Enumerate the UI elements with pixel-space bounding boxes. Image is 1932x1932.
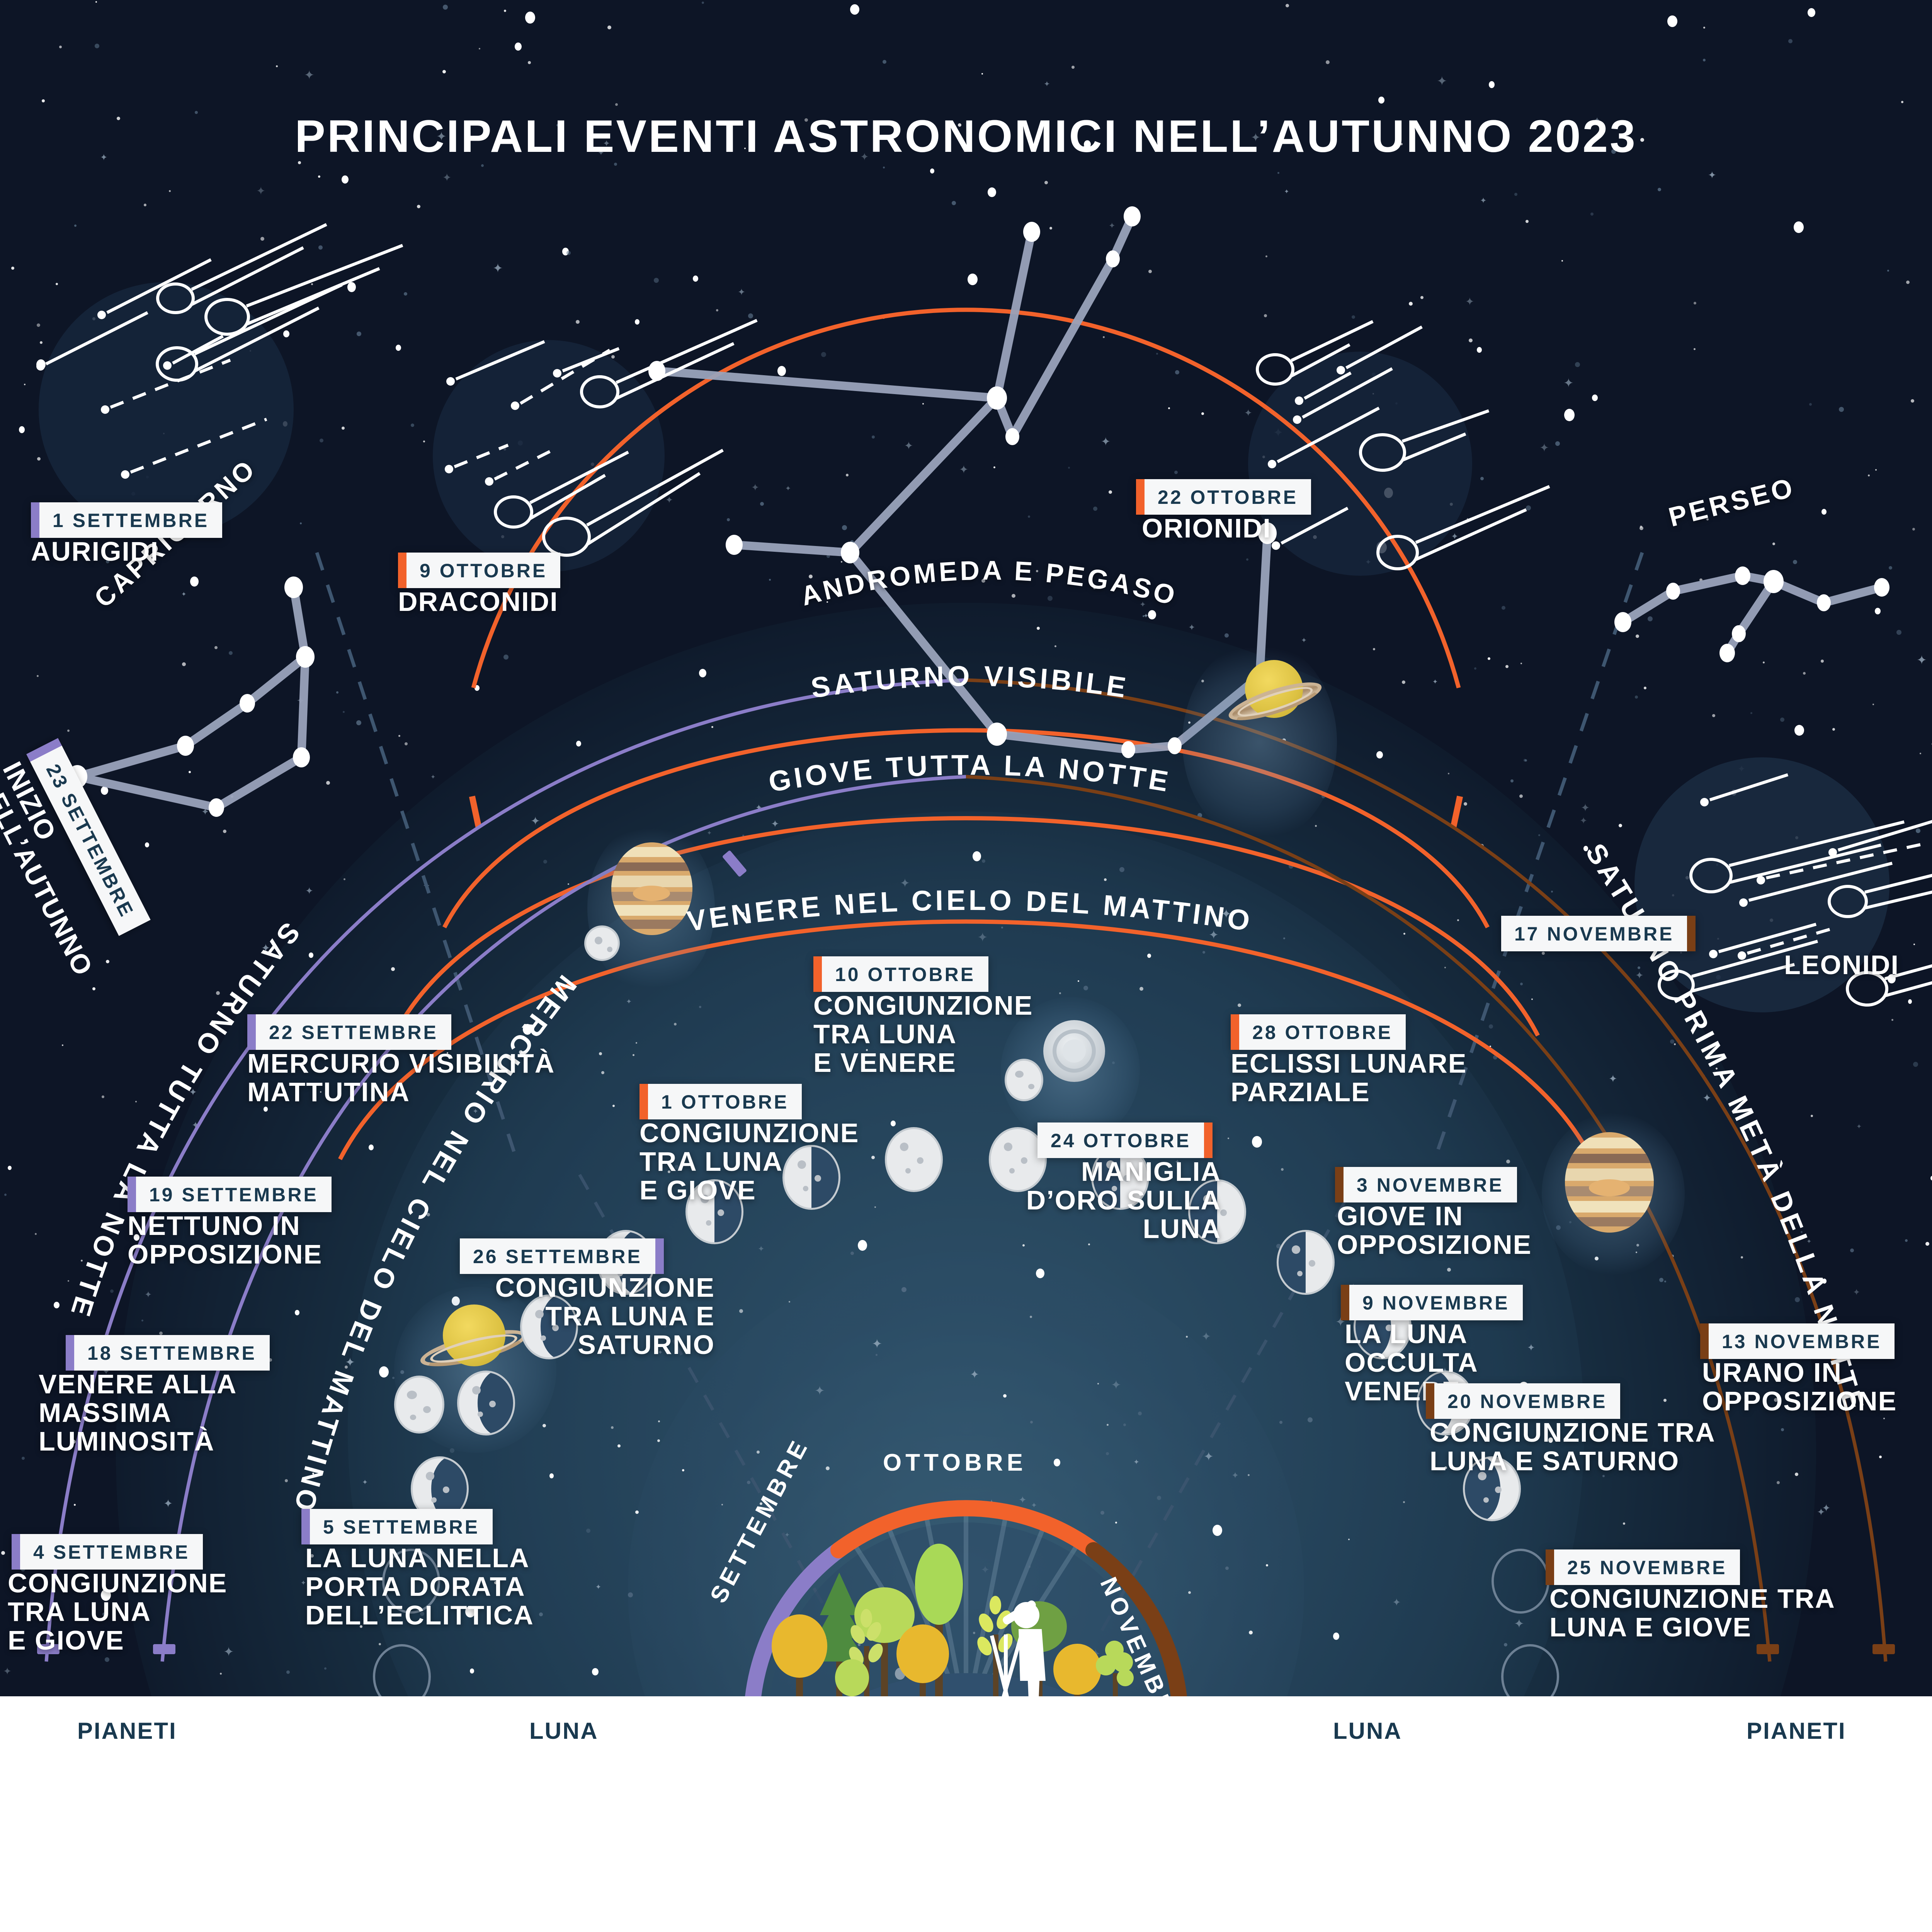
chip-date-label: 4 SETTEMBRE xyxy=(20,1534,203,1570)
chip-date-17-novembre[interactable]: 17 NOVEMBRE xyxy=(1501,916,1696,951)
chip-accent-bar xyxy=(1426,1383,1434,1419)
chip-date-label: 18 SETTEMBRE xyxy=(74,1335,270,1371)
chip-accent-bar xyxy=(639,1084,648,1119)
chip-date-28-ottobre[interactable]: 28 OTTOBRE xyxy=(1231,1014,1406,1050)
event-title: GIOVE IN OPPOSIZIONE xyxy=(1337,1202,1532,1259)
arc-label-giove-tutta-la-notte: GIOVE TUTTA LA NOTTE xyxy=(657,734,1283,825)
month-label-ottobre: OTTOBRE xyxy=(883,1449,1027,1476)
event-title: VENERE ALLA MASSIMA LUMINOSITÀ xyxy=(39,1370,237,1456)
footer-label-pianeti-left: PIANETI xyxy=(77,1718,177,1744)
chip-date-24-ottobre[interactable]: 24 OTTOBRE xyxy=(1037,1122,1213,1158)
chip-date-label: 9 OTTOBRE xyxy=(406,553,560,588)
chip-date-1-ottobre[interactable]: 1 OTTOBRE xyxy=(639,1084,802,1119)
event-title: LEONIDI xyxy=(1501,951,1899,979)
event-eclissi-lunare-parziale: ECLISSI LUNARE PARZIALE xyxy=(1231,1049,1467,1106)
event-title: LA LUNA NELLA PORTA DORATA DELL’ECLITTIC… xyxy=(305,1544,534,1630)
event-title: NETTUNO IN OPPOSIZIONE xyxy=(128,1211,322,1269)
chip-accent-bar xyxy=(1700,1323,1709,1359)
event-title: CONGIUNZIONE TRA LUNA E SATURNO xyxy=(1430,1418,1716,1475)
event-draconidi: DRACONIDI xyxy=(398,587,558,616)
event-title: DRACONIDI xyxy=(398,587,558,616)
chip-accent-bar xyxy=(1204,1122,1213,1158)
event-title: CONGIUNZIONE TRA LUNA E SATURNO xyxy=(386,1273,715,1359)
chip-date-label: 28 OTTOBRE xyxy=(1239,1014,1406,1050)
event-title: ORIONIDI xyxy=(1142,514,1271,543)
event-title: URANO IN OPPOSIZIONE xyxy=(1702,1358,1897,1415)
event-title: ECLISSI LUNARE PARZIALE xyxy=(1231,1049,1467,1106)
chip-accent-bar xyxy=(1136,479,1145,515)
chip-date-label: 17 NOVEMBRE xyxy=(1501,916,1687,951)
event-title: CONGIUNZIONE TRA LUNA E GIOVE xyxy=(1549,1584,1835,1641)
chip-date-label: 9 NOVEMBRE xyxy=(1349,1285,1523,1320)
chip-date-label: 1 OTTOBRE xyxy=(648,1084,802,1119)
event-orionidi: ORIONIDI xyxy=(1142,514,1271,543)
event-urano-opposizione: URANO IN OPPOSIZIONE xyxy=(1702,1358,1897,1415)
chip-date-9-ottobre[interactable]: 9 OTTOBRE xyxy=(398,553,560,588)
event-aurigidi: AURIGIDI xyxy=(31,537,159,566)
chip-date-label: 3 NOVEMBRE xyxy=(1344,1167,1517,1202)
event-mercurio-visibilita: MERCURIO VISIBILITÀ MATTUTINA xyxy=(247,1049,555,1106)
chip-accent-bar xyxy=(12,1534,20,1570)
chip-date-20-novembre[interactable]: 20 NOVEMBRE xyxy=(1426,1383,1620,1419)
month-arc: SETTEMBRE OTTOBRE NOVEMBRE xyxy=(707,1426,1225,1696)
chip-date-label: 26 SETTEMBRE xyxy=(460,1238,655,1274)
svg-text:GIOVE TUTTA LA NOTTE: GIOVE TUTTA LA NOTTE xyxy=(766,749,1173,798)
svg-text:VENERE NEL CIELO DEL MATTINO: VENERE NEL CIELO DEL MATTINO xyxy=(685,884,1255,937)
svg-text:SATURNO VISIBILE: SATURNO VISIBILE xyxy=(809,660,1131,704)
chip-date-22-ottobre[interactable]: 22 OTTOBRE xyxy=(1136,479,1311,515)
event-congiunzione-luna-saturno-26set: CONGIUNZIONE TRA LUNA E SATURNO xyxy=(386,1273,715,1359)
chip-date-18-settembre[interactable]: 18 SETTEMBRE xyxy=(66,1335,270,1371)
event-congiunzione-luna-venere: CONGIUNZIONE TRA LUNA E VENERE xyxy=(813,991,1033,1077)
moon-phase xyxy=(885,1127,943,1192)
moon-phase xyxy=(1277,1230,1335,1295)
footer-label-luna-right: LUNA xyxy=(1333,1718,1402,1744)
chip-accent-bar xyxy=(247,1014,256,1050)
event-nettuno-opposizione: NETTUNO IN OPPOSIZIONE xyxy=(128,1211,322,1269)
chip-date-label: 20 NOVEMBRE xyxy=(1434,1383,1620,1419)
chip-date-19-settembre[interactable]: 19 SETTEMBRE xyxy=(128,1177,332,1212)
event-maniglia-oro-luna: MANIGLIA D’ORO SULLA LUNA xyxy=(989,1157,1221,1243)
chip-date-label: 1 SETTEMBRE xyxy=(39,502,222,538)
chip-accent-bar xyxy=(301,1509,310,1544)
chip-date-label: 13 NOVEMBRE xyxy=(1709,1323,1895,1359)
chip-date-label: 22 SETTEMBRE xyxy=(256,1014,451,1050)
night-sky-background: ✦✦✦✦✦✦✦✦✦✦✦✦✦✦✦✦✦✦✦✦✦✦✦✦✦✦✦✦✦✦✦✦✦✦✦✦✦✦✦✦… xyxy=(0,0,1932,1696)
chip-date-22-settembre[interactable]: 22 SETTEMBRE xyxy=(247,1014,451,1050)
chip-accent-bar xyxy=(813,956,822,992)
chip-accent-bar xyxy=(1546,1549,1554,1585)
chip-date-9-novembre[interactable]: 9 NOVEMBRE xyxy=(1341,1285,1523,1320)
chip-date-4-settembre[interactable]: 4 SETTEMBRE xyxy=(12,1534,203,1570)
event-title: CONGIUNZIONE TRA LUNA E GIOVE xyxy=(639,1119,859,1205)
chip-date-label: 5 SETTEMBRE xyxy=(310,1509,493,1544)
event-congiunzione-luna-giove-25nov: CONGIUNZIONE TRA LUNA E GIOVE xyxy=(1549,1584,1835,1641)
svg-text:ANDROMEDA E PEGASO: ANDROMEDA E PEGASO xyxy=(798,555,1180,611)
chip-date-3-novembre[interactable]: 3 NOVEMBRE xyxy=(1335,1167,1517,1202)
chip-date-label: 19 SETTEMBRE xyxy=(136,1177,332,1212)
event-title: CONGIUNZIONE TRA LUNA E GIOVE xyxy=(8,1569,227,1655)
event-luna-porta-dorata: LA LUNA NELLA PORTA DORATA DELL’ECLITTIC… xyxy=(305,1544,534,1630)
event-title: MERCURIO VISIBILITÀ MATTUTINA xyxy=(247,1049,555,1106)
venus-planet xyxy=(1043,1020,1105,1082)
infographic-root: ✦✦✦✦✦✦✦✦✦✦✦✦✦✦✦✦✦✦✦✦✦✦✦✦✦✦✦✦✦✦✦✦✦✦✦✦✦✦✦✦… xyxy=(0,0,1932,1932)
page-title: PRINCIPALI EVENTI ASTRONOMICI NELL’AUTUN… xyxy=(0,110,1932,163)
chip-accent-bar xyxy=(1335,1167,1344,1202)
chip-date-label: 24 OTTOBRE xyxy=(1037,1122,1204,1158)
chip-accent-bar xyxy=(655,1238,664,1274)
chip-accent-bar xyxy=(1341,1285,1349,1320)
chip-accent-bar xyxy=(398,553,406,588)
arc-label-venere-cielo-mattino: VENERE NEL CIELO DEL MATTINO xyxy=(556,866,1383,964)
chip-accent-bar xyxy=(1231,1014,1239,1050)
chip-accent-bar xyxy=(1687,916,1696,951)
event-title: MANIGLIA D’ORO SULLA LUNA xyxy=(989,1157,1221,1243)
event-venere-massima-luminosita: VENERE ALLA MASSIMA LUMINOSITÀ xyxy=(39,1370,237,1456)
event-title: AURIGIDI xyxy=(31,537,159,566)
chip-date-10-ottobre[interactable]: 10 OTTOBRE xyxy=(813,956,988,992)
chip-date-1-settembre[interactable]: 1 SETTEMBRE xyxy=(31,502,222,538)
event-title: CONGIUNZIONE TRA LUNA E VENERE xyxy=(813,991,1033,1077)
chip-date-5-settembre[interactable]: 5 SETTEMBRE xyxy=(301,1509,493,1544)
arc-label-saturno-visibile: SATURNO VISIBILE xyxy=(703,649,1236,728)
event-congiunzione-luna-giove-4set: CONGIUNZIONE TRA LUNA E GIOVE xyxy=(8,1569,227,1655)
chip-date-26-settembre[interactable]: 26 SETTEMBRE xyxy=(460,1238,664,1274)
footer: PIANETI LUNA LUNA PIANETI universe2go My… xyxy=(0,1696,1932,1932)
event-leonidi: LEONIDI xyxy=(1501,951,1899,979)
footer-label-pianeti-right: PIANETI xyxy=(1747,1718,1846,1744)
chip-date-13-novembre[interactable]: 13 NOVEMBRE xyxy=(1700,1323,1895,1359)
event-congiunzione-luna-giove-1ott: CONGIUNZIONE TRA LUNA E GIOVE xyxy=(639,1119,859,1205)
chip-accent-bar xyxy=(66,1335,74,1371)
footer-label-luna-left: LUNA xyxy=(529,1718,599,1744)
event-giove-opposizione: GIOVE IN OPPOSIZIONE xyxy=(1337,1202,1532,1259)
chip-date-label: 10 OTTOBRE xyxy=(822,956,988,992)
constellation-label-andromeda-pegaso: ANDROMEDA E PEGASO xyxy=(784,553,1194,628)
chip-accent-bar xyxy=(31,502,39,538)
chip-date-label: 22 OTTOBRE xyxy=(1145,479,1311,515)
chip-accent-bar xyxy=(128,1177,136,1212)
chip-date-label: 25 NOVEMBRE xyxy=(1554,1549,1740,1585)
event-congiunzione-luna-saturno-20nov: CONGIUNZIONE TRA LUNA E SATURNO xyxy=(1430,1418,1716,1475)
chip-date-25-novembre[interactable]: 25 NOVEMBRE xyxy=(1546,1549,1740,1585)
